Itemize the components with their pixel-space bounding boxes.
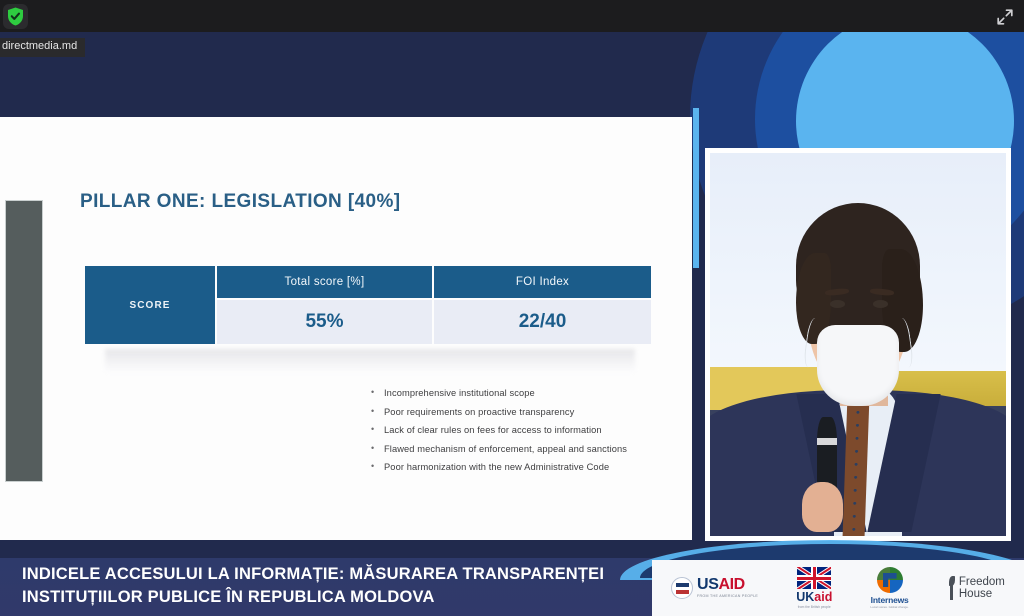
vertical-accent-bar <box>693 108 699 268</box>
shield-check-icon[interactable] <box>3 4 28 29</box>
speaker-tie <box>842 398 869 536</box>
list-item: Flawed mechanism of enforcement, appeal … <box>370 444 670 454</box>
speaker-eye-right <box>873 300 888 308</box>
usaid-label-aid: AID <box>718 576 744 593</box>
list-item: Poor requirements on proactive transpare… <box>370 407 670 417</box>
slide-title: PILLAR ONE: LEGISLATION [40%] <box>80 191 401 213</box>
speaker-video-panel[interactable] <box>705 148 1011 541</box>
slide-panel: PILLAR ONE: LEGISLATION [40%] SCORE Tota… <box>0 117 692 540</box>
list-item: Poor harmonization with the new Administ… <box>370 462 670 472</box>
banner-line-2: INSTITUȚIILOR PUBLICE ÎN REPUBLICA MOLDO… <box>22 586 652 609</box>
speaker-face-mask <box>817 325 900 405</box>
fullscreen-expand-icon[interactable] <box>992 4 1018 29</box>
findings-bullet-list: Incomprehensive institutional scope Poor… <box>370 388 670 481</box>
table-row-label: SCORE <box>85 266 215 344</box>
internews-tagline: Local voices. Global change. <box>870 605 908 609</box>
table-value-total-score: 55% <box>217 300 432 344</box>
banner-title-text: INDICELE ACCESULUI LA INFORMAȚIE: MĂSURA… <box>22 563 652 609</box>
donor-logo-strip: USAID FROM THE AMERICAN PEOPLE UKaid fro… <box>652 560 1024 616</box>
score-table: SCORE Total score [%] FOI Index 55% 22/4… <box>85 266 651 344</box>
freedom-house-line-2: House <box>959 588 1005 600</box>
freedom-house-line-1: Freedom <box>959 576 1005 588</box>
ukaid-tagline: from the British people <box>798 605 831 609</box>
internews-logo: Internews Local voices. Global change. <box>870 567 908 609</box>
player-top-bar <box>0 0 1024 32</box>
union-jack-icon <box>797 567 831 589</box>
internews-mark-icon <box>877 567 903 593</box>
slide-left-decorative-bar <box>5 200 43 482</box>
ukaid-label-uk: UK <box>796 590 814 604</box>
banner-line-1: INDICELE ACCESULUI LA INFORMAȚIE: MĂSURA… <box>22 563 652 586</box>
list-item: Lack of clear rules on fees for access t… <box>370 425 670 435</box>
speaker-eye-left <box>830 300 845 308</box>
usaid-seal-icon <box>671 577 693 599</box>
usaid-tagline: FROM THE AMERICAN PEOPLE <box>697 595 758 599</box>
microphone-band <box>817 438 838 445</box>
usaid-logo: USAID FROM THE AMERICAN PEOPLE <box>671 577 758 599</box>
list-item: Incomprehensive institutional scope <box>370 388 670 398</box>
source-tooltip: directmedia.md <box>0 38 85 57</box>
table-shadow <box>105 349 635 373</box>
freedom-house-logo: Freedom House <box>947 576 1005 600</box>
usaid-label-us: US <box>697 576 718 593</box>
table-value-foi-index: 22/40 <box>434 300 651 344</box>
ukaid-label-aid: aid <box>814 590 832 604</box>
table-header-foi-index: FOI Index <box>434 266 651 298</box>
internews-label: Internews <box>871 595 909 605</box>
screen-root: PILLAR ONE: LEGISLATION [40%] SCORE Tota… <box>0 0 1024 616</box>
torch-icon <box>947 576 956 600</box>
ukaid-logo: UKaid from the British people <box>796 567 832 609</box>
table-header-total-score: Total score [%] <box>217 266 432 298</box>
speaker-hand <box>802 482 843 532</box>
